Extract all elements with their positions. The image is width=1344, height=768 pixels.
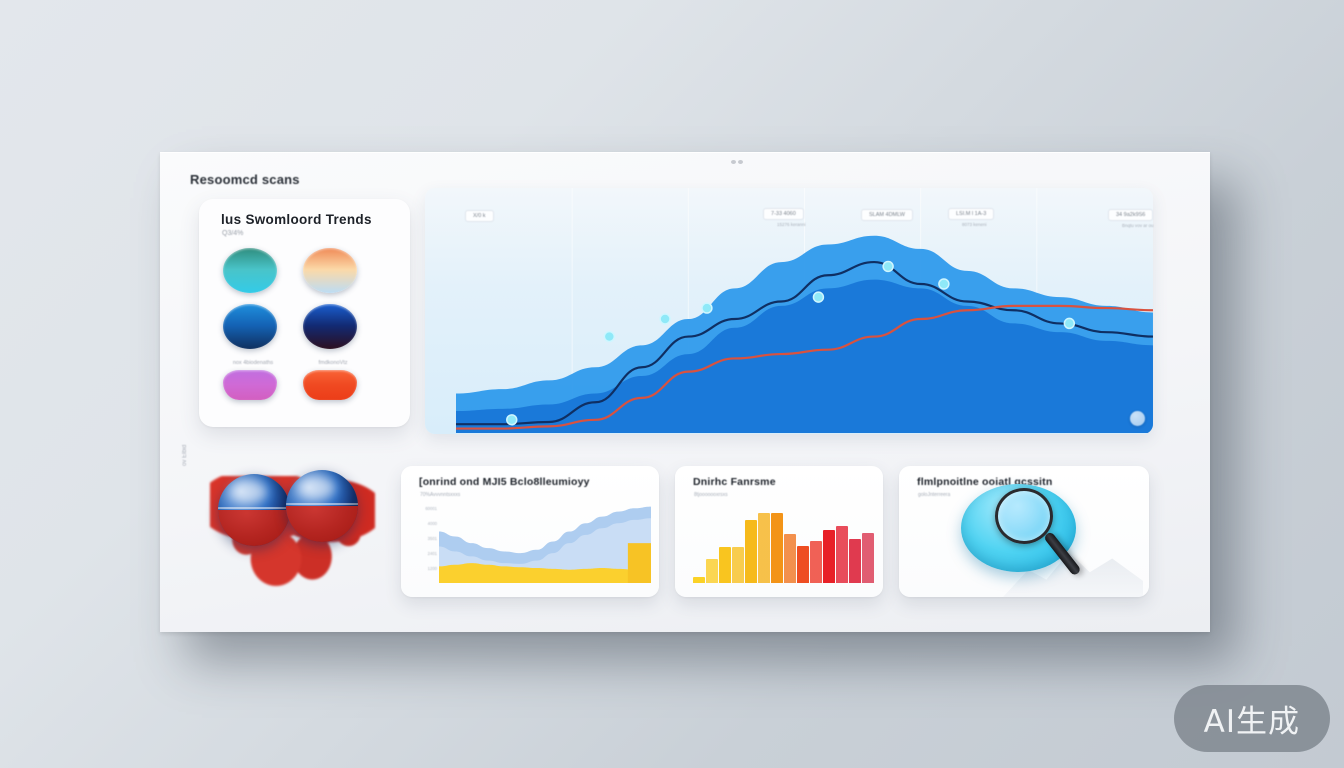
- bar[interactable]: [849, 539, 861, 583]
- chart-marker: [1064, 318, 1074, 328]
- card-area-y-axis: 600014000350124011200: [419, 502, 439, 583]
- card-area-y-tick: 60001: [425, 506, 437, 511]
- swatch-caption-2: fmdkonoVtz: [305, 360, 361, 366]
- card-area-plot: 600014000350124011200: [419, 502, 651, 583]
- globe-map-block: ov Elbid: [178, 458, 393, 608]
- bar[interactable]: [823, 530, 835, 583]
- swatch-azure-navy[interactable]: [223, 304, 277, 349]
- swatch-row-3: [223, 370, 388, 400]
- chart-marker: [813, 292, 823, 302]
- card-bars-plot: [693, 502, 875, 583]
- card-area-subtitle: 70%Avvvnntsxxxs: [420, 492, 460, 498]
- label-5[interactable]: 34 9a2k9S6: [1108, 209, 1153, 221]
- swatch-peach-sky[interactable]: [303, 248, 357, 293]
- globe-right[interactable]: [286, 470, 358, 542]
- magnifier-icon[interactable]: [995, 488, 1053, 544]
- swatch-captions: nox 4biodenaths fmdkonoVtz: [225, 360, 388, 366]
- swatch-blue-maroon[interactable]: [303, 304, 357, 349]
- swatch-grid: nox 4biodenaths fmdkonoVtz: [223, 248, 388, 411]
- label-2-sub: 15276 keranni: [777, 222, 806, 227]
- swatch-caption-1: nox 4biodenaths: [225, 360, 281, 366]
- globe-left[interactable]: [218, 474, 290, 546]
- card-area-highlight-bar: [628, 543, 651, 583]
- card-search-subtitle: goloJnterreera: [918, 492, 950, 498]
- swatch-violet-magenta[interactable]: [223, 370, 277, 400]
- card-bar-chart[interactable]: Dnirhc Fanrsme 8tjooooooxrsxs: [675, 466, 883, 597]
- bar[interactable]: [693, 577, 705, 583]
- chart-marker: [604, 332, 614, 342]
- card-area-svg: [439, 502, 651, 583]
- card-bars-subtitle: 8tjooooooxrsxs: [694, 492, 728, 498]
- label-3[interactable]: SLAM 4DMLW: [861, 209, 913, 221]
- card-area-y-tick: 2401: [428, 551, 437, 556]
- chart-marker: [939, 279, 949, 289]
- swatch-card-title: lus Swomloord Trends: [221, 212, 372, 227]
- page-title: Resoomcd scans: [190, 172, 300, 187]
- card-area-y-tick: 4000: [428, 521, 437, 526]
- swatch-card-subtitle: Q3/4%: [222, 230, 243, 237]
- card-area-chart[interactable]: [onrind ond MJI5 Bclo8lleumioyy 70%Avvvn…: [401, 466, 659, 597]
- chart-zoom-icon[interactable]: [1130, 411, 1145, 426]
- bar[interactable]: [706, 559, 718, 583]
- bar[interactable]: [836, 526, 848, 583]
- card-area-y-tick: 3501: [428, 536, 437, 541]
- swatch-row-1: [223, 248, 388, 293]
- chart-marker: [507, 415, 517, 425]
- card-bars-title: Dnirhc Fanrsme: [693, 476, 776, 488]
- label-5-sub: Bnqtu vov ar ou: [1122, 223, 1154, 228]
- chart-marker: [702, 303, 712, 313]
- bar[interactable]: [758, 513, 770, 583]
- bar[interactable]: [810, 541, 822, 583]
- swatch-orange-red[interactable]: [303, 370, 357, 400]
- label-4-sub: 8073 keneni: [962, 222, 987, 227]
- card-search-insight[interactable]: flmlpnoitlne ooiatl gcssitn goloJnterree…: [899, 466, 1149, 597]
- bar[interactable]: [797, 546, 809, 583]
- label-4[interactable]: LSI.M l 1A-3: [948, 208, 994, 220]
- ai-watermark: AI生成: [1174, 685, 1330, 752]
- swatch-row-2: [223, 304, 388, 349]
- card-area-title: [onrind ond MJI5 Bclo8lleumioyy: [419, 476, 590, 488]
- card-area-y-tick: 1200: [428, 566, 437, 571]
- bar[interactable]: [732, 547, 744, 583]
- dot-2: [738, 160, 743, 164]
- bar[interactable]: [771, 513, 783, 583]
- swatch-teal-cyan[interactable]: [223, 248, 277, 293]
- bar[interactable]: [784, 534, 796, 583]
- bar[interactable]: [862, 533, 874, 583]
- globe-vertical-label: ov Elbid: [182, 445, 188, 466]
- label-1[interactable]: X/0 k: [465, 210, 494, 222]
- swatch-card: lus Swomloord Trends Q3/4% nox 4biodenat…: [199, 199, 410, 427]
- chart-marker: [883, 261, 893, 271]
- bar[interactable]: [719, 547, 731, 583]
- window-dots-icon[interactable]: [731, 160, 743, 164]
- label-2[interactable]: 7-33 4060: [763, 208, 804, 220]
- bar[interactable]: [745, 520, 757, 583]
- chart-marker: [660, 314, 670, 324]
- dot-1: [731, 160, 736, 164]
